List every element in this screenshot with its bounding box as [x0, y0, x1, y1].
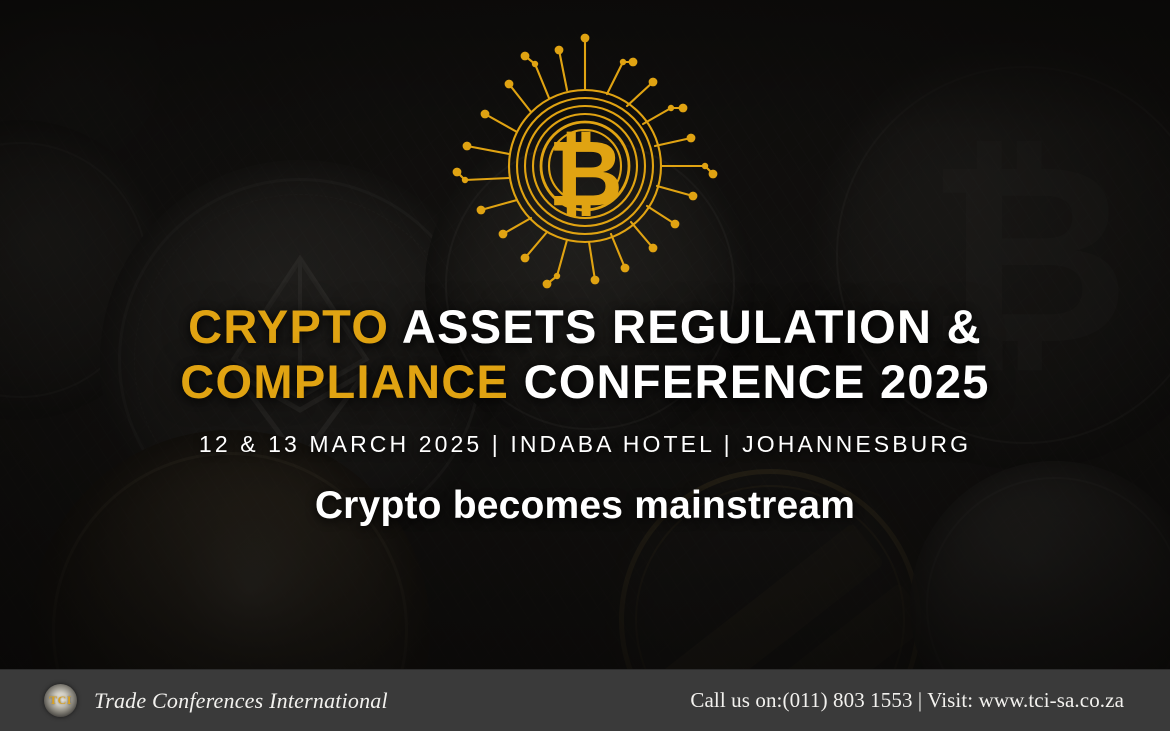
headline-line1-white: ASSETS REGULATION & — [402, 300, 982, 353]
brand-block: TCI Trade Conferences International — [44, 684, 388, 717]
bitcoin-circuit-emblem-icon: ₿ — [447, 28, 723, 304]
footer-bar: TCI Trade Conferences International Call… — [0, 669, 1170, 731]
headline-line-1: CRYPTO ASSETS REGULATION & — [60, 300, 1110, 355]
conference-banner: ₿ — [0, 0, 1170, 731]
footer-contact-info[interactable]: Call us on:(011) 803 1553 | Visit: www.t… — [690, 688, 1124, 713]
brand-name: Trade Conferences International — [94, 688, 388, 714]
headline-line-2: COMPLIANCE CONFERENCE 2025 — [60, 355, 1110, 410]
banner-content: CRYPTO ASSETS REGULATION & COMPLIANCE CO… — [0, 300, 1170, 528]
headline-line1-gold: CRYPTO — [188, 300, 389, 353]
svg-text:₿: ₿ — [548, 123, 622, 225]
headline-line2-gold: COMPLIANCE — [180, 355, 509, 408]
tci-logo-label: TCI — [49, 693, 72, 708]
headline-line2-white: CONFERENCE 2025 — [524, 355, 990, 408]
event-tagline: Crypto becomes mainstream — [60, 484, 1110, 528]
page-title: CRYPTO ASSETS REGULATION & COMPLIANCE CO… — [60, 300, 1110, 410]
event-dates-venue: 12 & 13 MARCH 2025 | INDABA HOTEL | JOHA… — [60, 431, 1110, 458]
tci-logo-icon: TCI — [44, 684, 77, 717]
